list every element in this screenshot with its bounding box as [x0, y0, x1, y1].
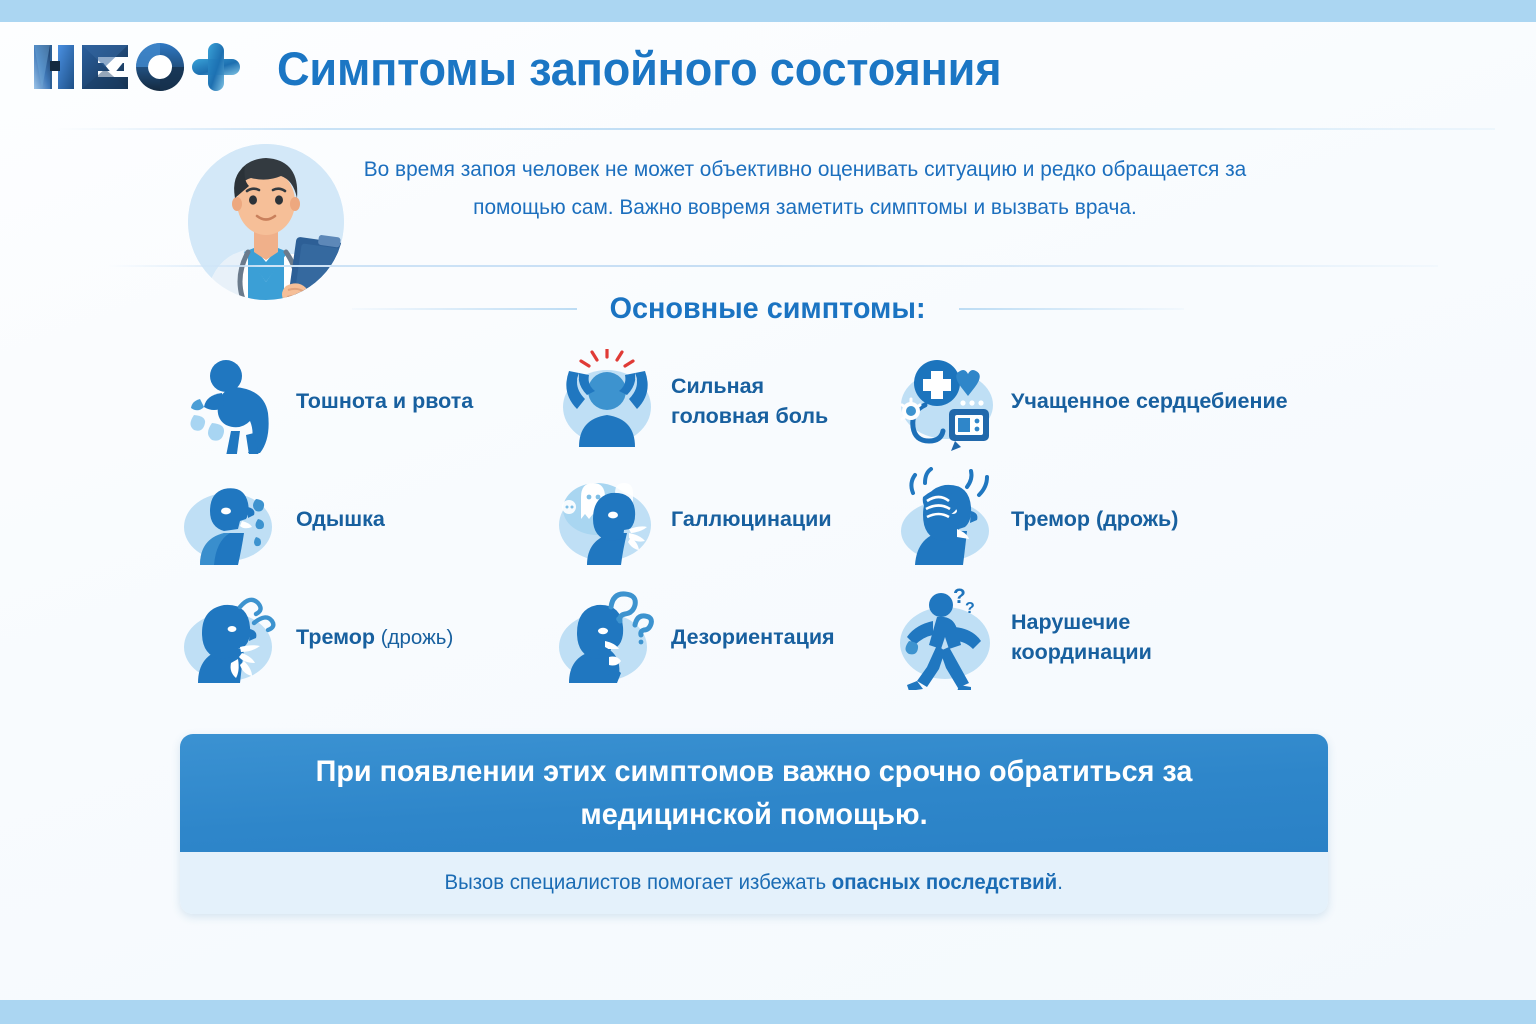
call-to-action-banner: При появлении этих симптомов важно срочн… — [180, 734, 1328, 914]
banner-subline-area: Вызов специалистов помогает избежать опа… — [180, 852, 1328, 914]
symptom-label: Учащенное сердцебиение — [1011, 388, 1288, 415]
heart-monitor-cross-icon — [893, 349, 1005, 454]
symptom-label: Тошнота и рвота — [296, 388, 473, 415]
symptom-item-hallucinations[interactable]: Галлюцинации — [553, 460, 893, 578]
subline-bold: опасных последствий — [832, 871, 1057, 894]
banner-headline: При появлении этих симптомов важно срочн… — [261, 750, 1248, 836]
section-heading: Основные симптомы: — [0, 286, 1536, 332]
symptom-label: Галлюцинации — [671, 506, 832, 533]
header: Симптомы запойного состояния — [0, 22, 1536, 114]
symptom-item-headache[interactable]: Сильная головная боль — [553, 342, 893, 460]
symptom-label: Тремор (дрожь) — [296, 624, 453, 651]
section-heading-label: Основные симптомы: — [585, 292, 951, 326]
symptom-label: Одышка — [296, 506, 385, 533]
banner-subline: Вызов специалистов помогает избежать опа… — [445, 868, 1063, 898]
symptom-label: Сильная головная боль — [671, 371, 828, 431]
subline-prefix: Вызов специалистов помогает избежать — [445, 871, 832, 894]
logo-svg — [30, 37, 245, 99]
intro-paragraph: Во время запоя человек не может объектив… — [325, 150, 1285, 226]
shivering-person-icon — [178, 585, 290, 690]
person-vomiting-icon — [178, 349, 290, 454]
heading-rule-right — [959, 308, 1184, 310]
symptom-label: Тремор (дрожь) — [1011, 506, 1178, 533]
neo-plus-logo[interactable] — [30, 37, 245, 99]
symptom-item-disorientation[interactable]: Дезориентация — [553, 578, 893, 696]
top-accent-band — [0, 0, 1536, 22]
symptom-item-tremor-head[interactable]: Тремор (дрожь) — [893, 460, 1358, 578]
infographic-page: Симптомы запойного состояния — [0, 0, 1536, 1024]
intro-divider — [108, 265, 1438, 267]
header-divider — [55, 128, 1495, 130]
page-title: Симптомы запойного состояния — [277, 41, 1001, 96]
bottom-accent-band — [0, 1000, 1536, 1024]
plus-mark — [192, 43, 240, 91]
heading-rule-left — [352, 308, 577, 310]
symptom-item-coordination[interactable]: ? ? Нарушечие координации — [893, 578, 1358, 696]
stumbling-walk-icon: ? ? — [893, 585, 1005, 690]
headache-person-icon — [553, 349, 665, 454]
svg-text:?: ? — [965, 600, 975, 617]
banner-headline-area: При появлении этих симптомов важно срочн… — [180, 734, 1328, 852]
svg-text:?: ? — [953, 585, 966, 608]
intro-section: Во время запоя человек не может объектив… — [0, 134, 1536, 254]
ghost-hallucination-icon — [553, 467, 665, 572]
head-shaking-hands-icon — [893, 467, 1005, 572]
symptom-item-dyspnea[interactable]: Одышка — [178, 460, 553, 578]
symptom-label: Дезориентация — [671, 624, 835, 651]
shortness-of-breath-icon — [178, 467, 290, 572]
symptoms-grid: Тошнота и рвота — [178, 342, 1358, 712]
symptom-item-tachycardia[interactable]: Учащенное сердцебиение — [893, 342, 1358, 460]
symptom-item-tremor-shiver[interactable]: Тремор (дрожь) — [178, 578, 553, 696]
subline-suffix: . — [1057, 871, 1063, 894]
symptom-item-nausea[interactable]: Тошнота и рвота — [178, 342, 553, 460]
symptom-label: Нарушечие координации — [1011, 607, 1152, 667]
confused-thinking-icon — [553, 585, 665, 690]
